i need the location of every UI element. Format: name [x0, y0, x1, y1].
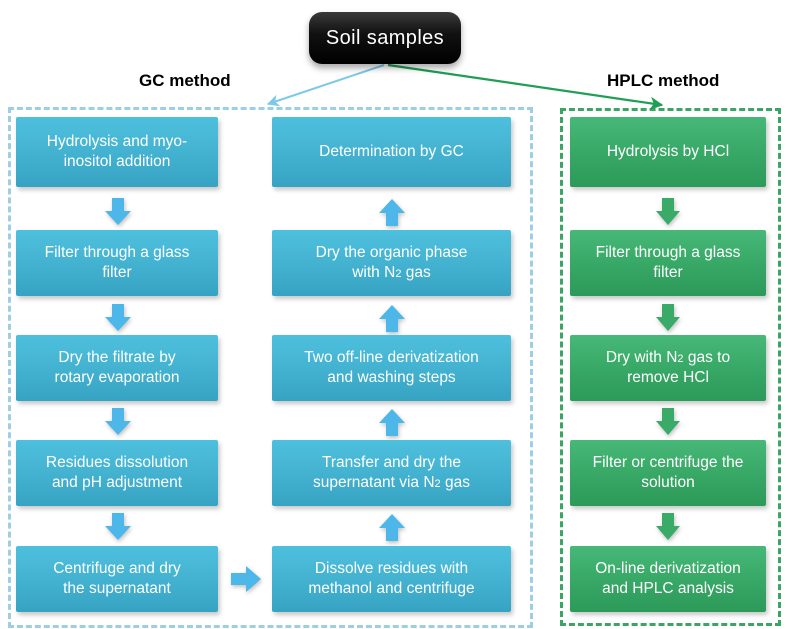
gc-left-step-4: Residues dissolution and pH adjustment [16, 440, 218, 506]
step-text: Filter or centrifuge the solution [593, 453, 744, 492]
gc-middle-step-2: Dry the organic phase with N2 gas [272, 230, 511, 296]
step-text: Dry the organic phase with N2 gas [316, 243, 468, 282]
hplc-arrow-1-down-icon [653, 196, 683, 228]
hplc-arrow-2-down-icon [653, 302, 683, 334]
hplc-step-2: Filter through a glass filter [570, 230, 766, 296]
gc-left-step-2: Filter through a glass filter [16, 230, 218, 296]
step-text: Transfer and dry the supernatant via N2 … [313, 453, 470, 492]
gc-middle-arrow-3-up-icon [376, 406, 408, 438]
gc-middle-step-5: Dissolve residues with methanol and cent… [272, 546, 511, 612]
gc-bridge-arrow-right-icon [229, 563, 263, 595]
step-text: Dissolve residues with methanol and cent… [308, 559, 474, 598]
gc-middle-arrow-1-up-icon [376, 196, 408, 228]
hplc-step-3: Dry with N2 gas to remove HCl [570, 335, 766, 401]
connector-soil-to-gc [268, 65, 384, 104]
hplc-arrow-4-down-icon [653, 511, 683, 543]
gc-method-title: GC method [139, 71, 231, 91]
hplc-arrow-3-down-icon [653, 406, 683, 438]
gc-left-step-1: Hydrolysis and myo- inositol addition [16, 117, 218, 187]
gc-middle-step-3: Two off-line derivatization and washing … [272, 335, 511, 401]
gc-left-step-5: Centrifuge and dry the supernatant [16, 546, 218, 612]
soil-samples-label: Soil samples [326, 27, 444, 50]
gc-middle-step-4: Transfer and dry the supernatant via N2 … [272, 440, 511, 506]
step-text: Dry the filtrate by rotary evaporation [55, 348, 180, 387]
gc-left-arrow-2-down-icon [102, 302, 134, 334]
step-text: Residues dissolution and pH adjustment [46, 453, 188, 492]
soil-samples-node: Soil samples [309, 12, 461, 64]
hplc-step-1: Hydrolysis by HCl [570, 117, 766, 187]
step-text: Dry with N2 gas to remove HCl [606, 348, 730, 387]
hplc-method-title: HPLC method [607, 71, 719, 91]
step-text: Determination by GC [319, 142, 464, 162]
step-text: Centrifuge and dry the supernatant [53, 559, 181, 598]
gc-middle-arrow-2-up-icon [376, 302, 408, 334]
step-text: On-line derivatization and HPLC analysis [595, 559, 741, 598]
gc-left-arrow-1-down-icon [102, 196, 134, 228]
step-text: Hydrolysis by HCl [607, 142, 729, 162]
gc-left-arrow-4-down-icon [102, 511, 134, 543]
step-text: Filter through a glass filter [596, 243, 741, 282]
hplc-step-4: Filter or centrifuge the solution [570, 440, 766, 506]
gc-left-arrow-3-down-icon [102, 406, 134, 438]
step-text: Hydrolysis and myo- inositol addition [47, 132, 187, 171]
step-text: Two off-line derivatization and washing … [304, 348, 479, 387]
step-text: Filter through a glass filter [45, 243, 190, 282]
hplc-step-5: On-line derivatization and HPLC analysis [570, 546, 766, 612]
gc-middle-arrow-4-up-icon [376, 511, 408, 543]
gc-middle-step-1: Determination by GC [272, 117, 511, 187]
gc-left-step-3: Dry the filtrate by rotary evaporation [16, 335, 218, 401]
